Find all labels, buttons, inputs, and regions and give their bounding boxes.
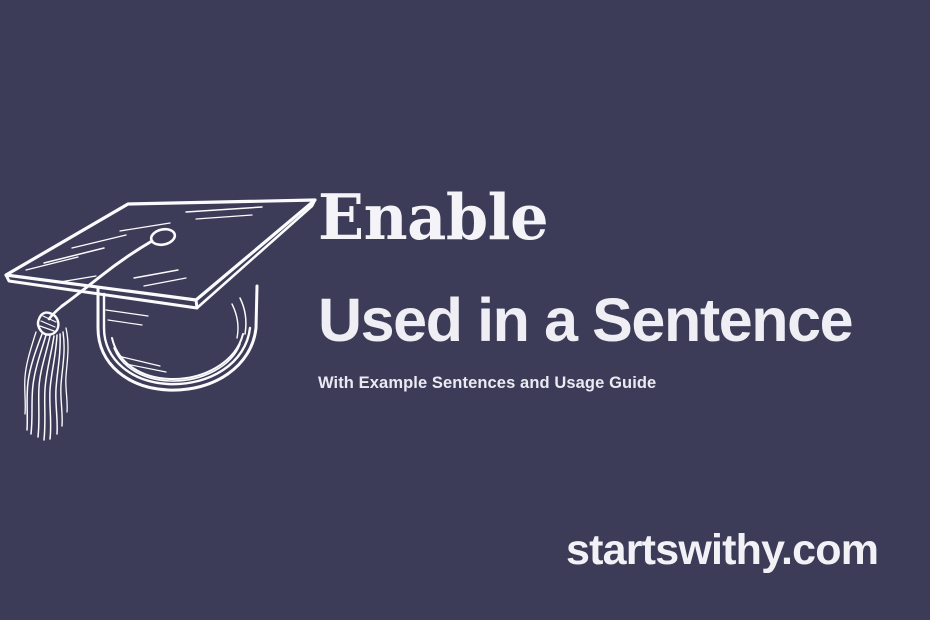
page-title: Enable [318, 186, 907, 249]
subtitle: With Example Sentences and Usage Guide [318, 374, 656, 393]
promo-card: Enable Used in a Sentence With Example S… [0, 0, 930, 620]
graduation-cap-sketch-icon [0, 178, 320, 453]
site-brand: startswithy.com [566, 526, 878, 575]
headline: Used in a Sentence [318, 288, 852, 352]
word-title-block: Enable [318, 186, 930, 249]
